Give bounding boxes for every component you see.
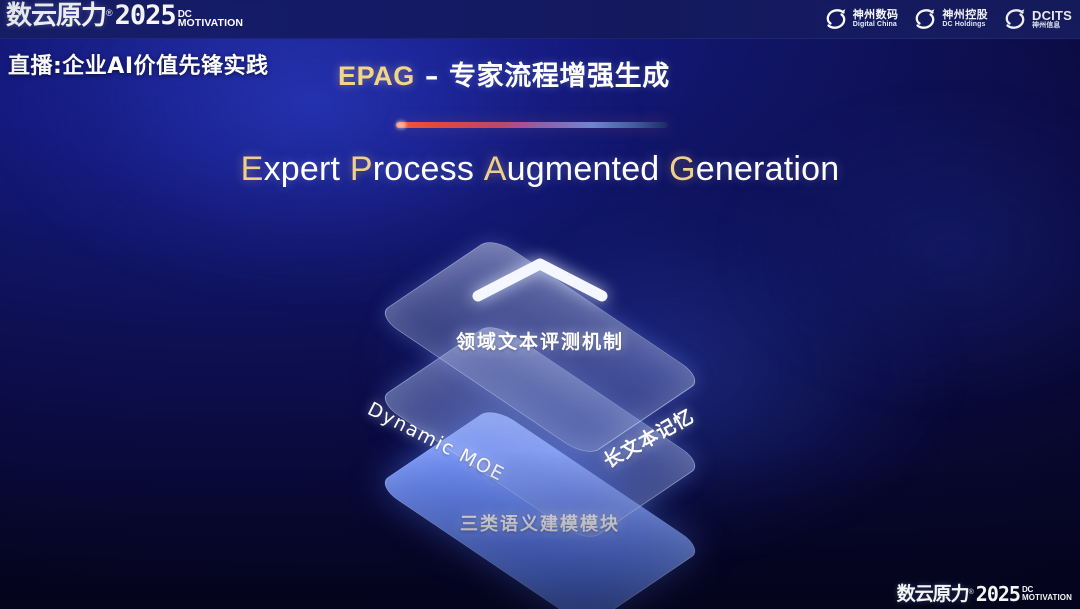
watermark-tagline-motivation: MOTIVATION (1022, 594, 1072, 602)
background-vignette (0, 0, 1080, 609)
watermark-brand: 数云原力 ® 2025 DC MOTIVATION (897, 585, 1072, 604)
watermark-registered-mark: ® (969, 587, 974, 598)
watermark-name-cn: 数云原力 (897, 585, 969, 604)
slide-stage: 数云原力 ® 2025 DC MOTIVATION (0, 0, 1080, 609)
watermark-tagline: DC MOTIVATION (1022, 586, 1072, 604)
watermark-year: 2025 (976, 585, 1020, 604)
